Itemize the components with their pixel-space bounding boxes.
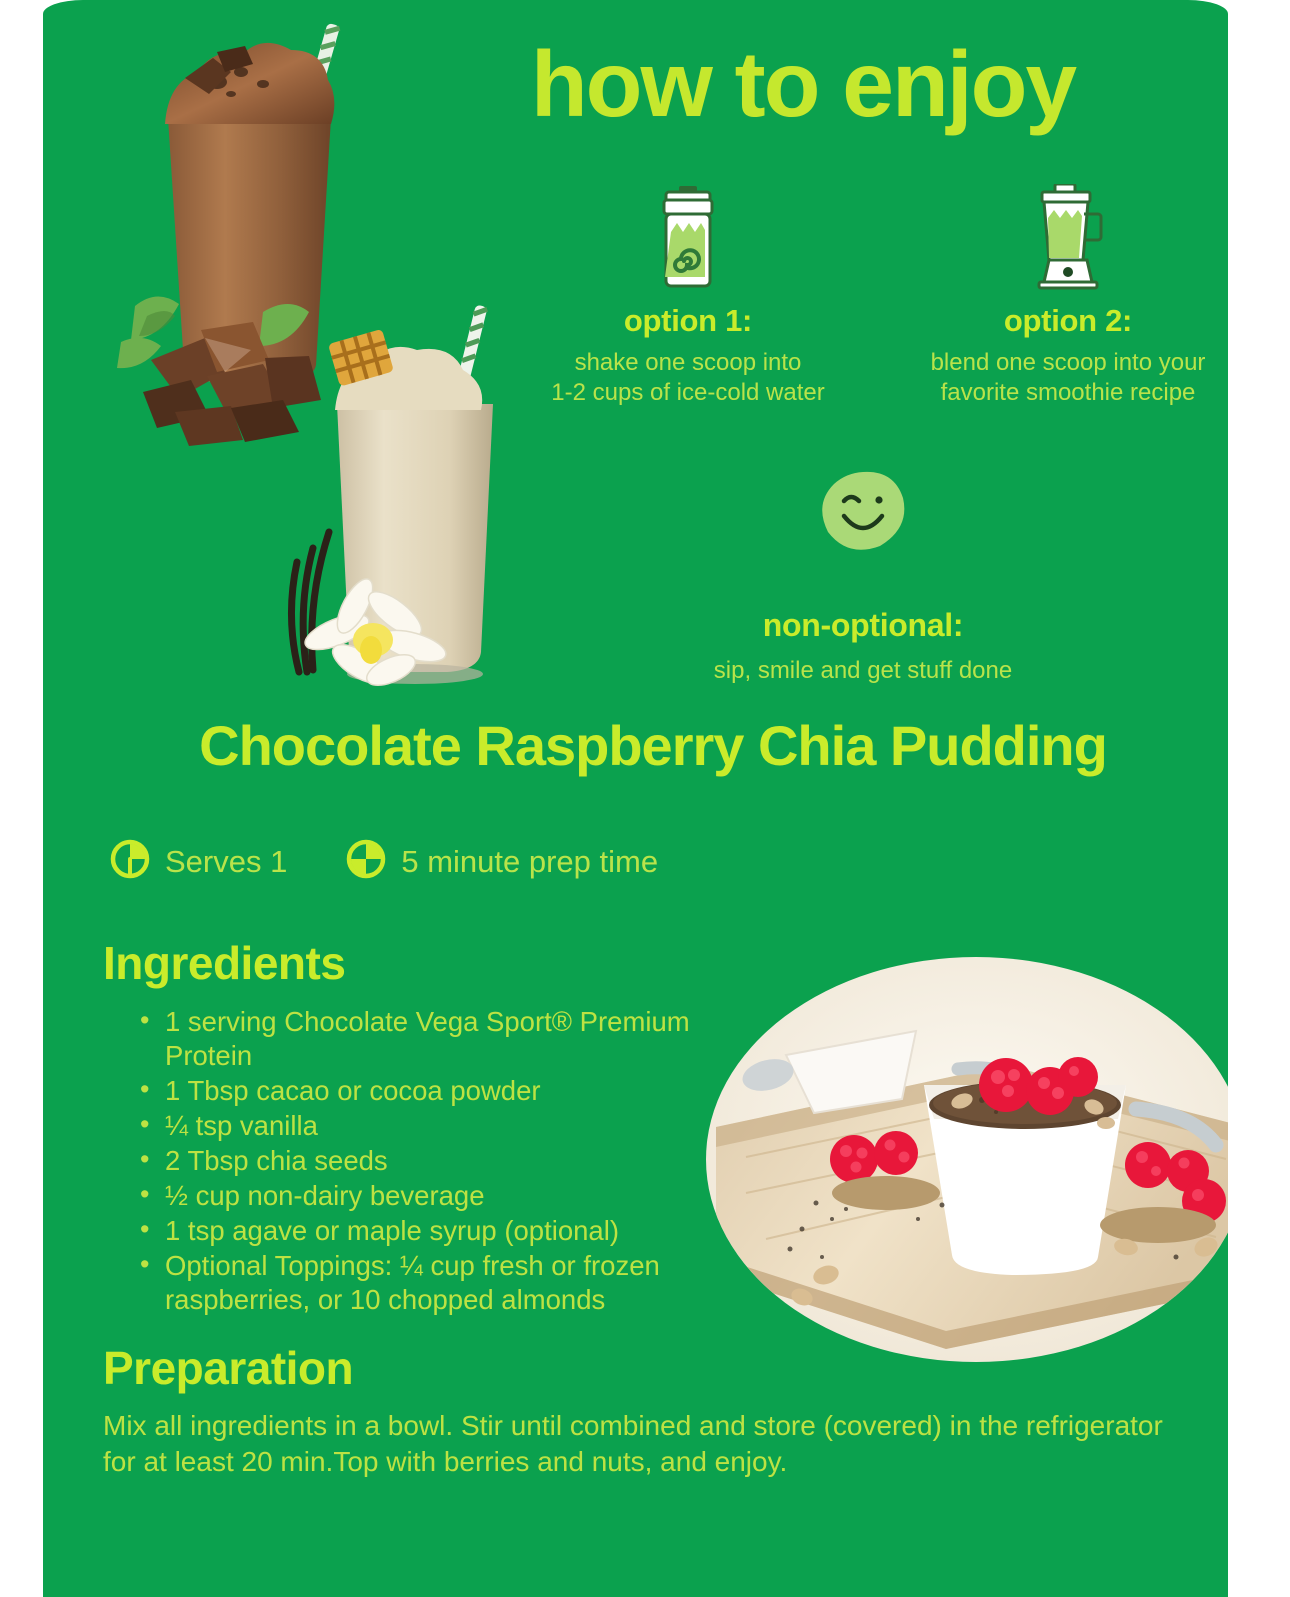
winking-smiley-icon — [603, 470, 1123, 557]
chia-pudding-photo — [706, 957, 1228, 1362]
option-2-title: option 2: — [873, 303, 1228, 339]
page-title: how to enjoy — [443, 38, 1163, 131]
option-1-block: option 1: shake one scoop into 1-2 cups … — [468, 180, 908, 409]
non-optional-description: sip, smile and get stuff done — [603, 657, 1123, 685]
preparation-heading: Preparation — [103, 1341, 353, 1395]
option-2-block: option 2: blend one scoop into your favo… — [873, 180, 1228, 409]
blender-icon — [873, 180, 1228, 290]
list-item: 2 Tbsp chia seeds — [135, 1144, 760, 1178]
prep-time-label: 5 minute prep time — [401, 844, 658, 880]
serves-label: Serves 1 — [165, 844, 287, 880]
list-item: Optional Toppings: ¼ cup fresh or frozen… — [135, 1249, 760, 1317]
list-item: ¼ tsp vanilla — [135, 1109, 760, 1143]
clock-icon — [109, 838, 151, 885]
option-1-description: shake one scoop into 1-2 cups of ice-col… — [468, 348, 908, 409]
list-item: 1 Tbsp cacao or cocoa powder — [135, 1074, 760, 1108]
clock-icon — [345, 838, 387, 885]
recipe-meta-row: Serves 1 5 minute prep time — [109, 838, 658, 885]
non-optional-block: non-optional: sip, smile and get stuff d… — [603, 470, 1123, 685]
non-optional-title: non-optional: — [603, 607, 1123, 644]
serves-meta: Serves 1 — [109, 838, 287, 885]
option-2-description: blend one scoop into your favorite smoot… — [873, 348, 1228, 409]
shaker-bottle-icon — [468, 180, 908, 290]
recipe-title: Chocolate Raspberry Chia Pudding — [103, 713, 1203, 778]
option-1-title: option 1: — [468, 303, 908, 339]
preparation-text: Mix all ingredients in a bowl. Stir unti… — [103, 1408, 1183, 1480]
ingredients-list: 1 serving Chocolate Vega Sport® Premium … — [135, 1005, 760, 1318]
option-1-line-2: 1-2 cups of ice-cold water — [468, 378, 908, 408]
option-1-line-1: shake one scoop into — [468, 348, 908, 378]
option-2-line-2: favorite smoothie recipe — [873, 378, 1228, 408]
list-item: 1 serving Chocolate Vega Sport® Premium … — [135, 1005, 760, 1073]
option-2-line-1: blend one scoop into your — [873, 348, 1228, 378]
prep-time-meta: 5 minute prep time — [345, 838, 658, 885]
poster-panel: how to enjoy option 1: shake one scoop i… — [43, 0, 1228, 1597]
list-item: 1 tsp agave or maple syrup (optional) — [135, 1214, 760, 1248]
ingredients-heading: Ingredients — [103, 936, 345, 990]
list-item: ½ cup non-dairy beverage — [135, 1179, 760, 1213]
